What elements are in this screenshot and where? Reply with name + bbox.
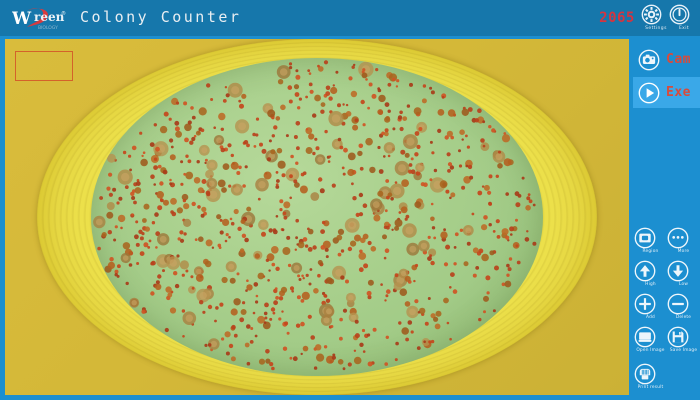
cam-label: Cam (666, 52, 691, 67)
agar-surface (91, 58, 543, 376)
delete-tool-button[interactable]: Delete (667, 293, 700, 325)
add-label: Add (634, 315, 667, 320)
print-icon (634, 363, 667, 385)
more-label: More (667, 249, 700, 254)
save-image-icon (667, 326, 700, 348)
svg-text:reen: reen (34, 10, 65, 24)
region-icon (634, 227, 667, 249)
app-root: W reen ® BIOLOGY Colony Counter 2065 (0, 0, 700, 400)
low-label: Low (667, 282, 700, 287)
power-icon (669, 4, 699, 25)
open-image-icon (634, 326, 667, 348)
exe-label: Exe (666, 85, 691, 100)
play-icon (638, 82, 660, 104)
high-label: High (634, 282, 667, 287)
title-bar: W reen ® BIOLOGY Colony Counter 2065 (0, 0, 700, 36)
high-tool-button[interactable]: High (634, 260, 667, 292)
arrow-up-icon (634, 260, 667, 282)
arrow-down-icon (667, 260, 700, 282)
more-tool-button[interactable]: More (667, 227, 700, 259)
delete-label: Delete (667, 315, 700, 320)
region-label: Region (634, 249, 667, 254)
tool-grid: Region More (633, 227, 700, 397)
more-icon (667, 227, 700, 249)
settings-button[interactable]: Settings (641, 4, 671, 34)
add-tool-button[interactable]: Add (634, 293, 667, 325)
colony-markers (91, 58, 543, 376)
brand-logo: W reen ® BIOLOGY (12, 3, 74, 33)
gear-icon (641, 4, 671, 25)
minus-icon (667, 293, 700, 315)
cam-button[interactable]: Cam (633, 44, 700, 75)
roi-selection-rectangle[interactable] (15, 51, 73, 81)
save-image-label: Save Image (667, 348, 700, 353)
low-tool-button[interactable]: Low (667, 260, 700, 292)
save-image-button[interactable]: Save Image (667, 326, 700, 358)
plus-icon (634, 293, 667, 315)
open-image-button[interactable]: Open Image (634, 326, 667, 358)
svg-text:®: ® (61, 10, 66, 17)
exit-button[interactable]: Exit (669, 4, 699, 34)
settings-label: Settings (641, 26, 671, 31)
print-result-label: Print result (634, 385, 667, 390)
print-result-button[interactable]: Print result (634, 363, 667, 395)
exit-label: Exit (669, 26, 699, 31)
region-tool-button[interactable]: Region (634, 227, 667, 259)
image-canvas[interactable] (3, 37, 631, 397)
camera-icon (638, 49, 660, 71)
exe-button[interactable]: Exe (633, 77, 700, 108)
page-title: Colony Counter (80, 8, 241, 26)
svg-text:BIOLOGY: BIOLOGY (38, 25, 58, 31)
right-sidebar: Cam Exe Region (633, 37, 700, 400)
colony-count: 2065 (596, 10, 638, 26)
canvas-inner (5, 39, 629, 395)
open-image-label: Open Image (634, 348, 667, 353)
